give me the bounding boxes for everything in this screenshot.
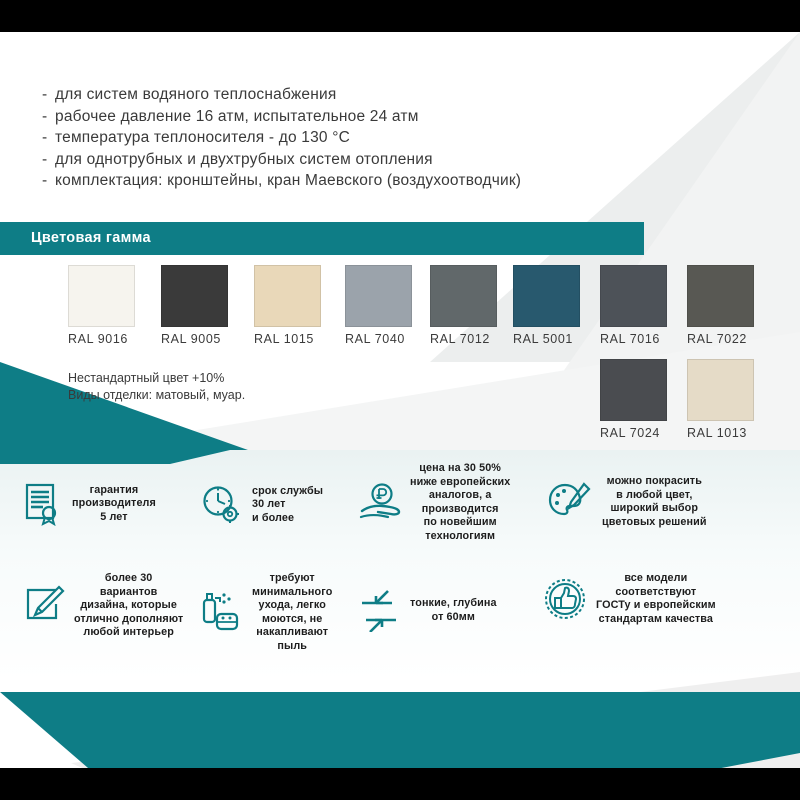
swatch-chip <box>345 265 412 327</box>
feature-text: цена на 30 50% ниже европейских аналогов… <box>410 462 510 544</box>
feature-easy-clean: требуют минимального ухода, легко моются… <box>198 572 368 654</box>
swatch-chip <box>513 265 580 327</box>
feature-text: более 30 вариантов дизайна, которые отли… <box>74 572 183 640</box>
bullet-marker: - <box>42 84 55 106</box>
bullet-text: для однотрубных и двухтрубных систем ото… <box>55 149 433 171</box>
swatch-ral-1013: RAL 1013 <box>687 359 754 440</box>
swatch-label: RAL 7012 <box>430 332 497 346</box>
bullet-text: температура теплоносителя - до 130 °С <box>55 127 350 149</box>
swatch-chip <box>687 359 754 421</box>
swatch-ral-9005: RAL 9005 <box>161 265 228 346</box>
bullet-text: рабочее давление 16 атм, испытательное 2… <box>55 106 419 128</box>
swatch-ral-7022: RAL 7022 <box>687 265 754 346</box>
swatch-ral-7012: RAL 7012 <box>430 265 497 346</box>
letterbox-bottom <box>0 768 800 800</box>
feature-design-variants: более 30 вариантов дизайна, которые отли… <box>22 572 202 640</box>
palette-notes: Нестандартный цвет +10% Виды отделки: ма… <box>68 370 245 404</box>
list-item: - температура теплоносителя - до 130 °С <box>42 127 642 149</box>
hand-ruble-icon <box>358 481 404 525</box>
swatch-ral-9016: RAL 9016 <box>68 265 135 346</box>
certificate-icon <box>22 482 64 526</box>
bullet-marker: - <box>42 106 55 128</box>
list-item: - рабочее давление 16 атм, испытательное… <box>42 106 642 128</box>
swatch-label: RAL 7022 <box>687 332 754 346</box>
swatch-chip <box>254 265 321 327</box>
feature-price: цена на 30 50% ниже европейских аналогов… <box>358 462 548 544</box>
swatch-chip <box>600 359 667 421</box>
swatch-label: RAL 1015 <box>254 332 321 346</box>
swatch-chip <box>161 265 228 327</box>
decorative-bottom-white-wedge <box>0 732 160 768</box>
swatch-label: RAL 1013 <box>687 426 754 440</box>
decorative-bottom-gray <box>0 632 800 768</box>
swatch-ral-1015: RAL 1015 <box>254 265 321 346</box>
swatch-label: RAL 7040 <box>345 332 412 346</box>
bullet-text: для систем водяного теплоснабжения <box>55 84 336 106</box>
swatch-label: RAL 5001 <box>513 332 580 346</box>
slide-body: - для систем водяного теплоснабжения - р… <box>0 32 800 768</box>
feature-text: можно покрасить в любой цвет, широкий вы… <box>602 475 707 529</box>
swatch-ral-7040: RAL 7040 <box>345 265 412 346</box>
letterbox-top <box>0 0 800 32</box>
feature-warranty: гарантия производителя 5 лет <box>22 482 197 526</box>
feature-text: тонкие, глубина от 60мм <box>410 597 497 624</box>
list-item: - для систем водяного теплоснабжения <box>42 84 642 106</box>
bullet-marker: - <box>42 149 55 171</box>
depth-arrows-icon <box>358 590 400 632</box>
feature-depth: тонкие, глубина от 60мм <box>358 590 538 632</box>
pencil-design-icon <box>22 584 66 628</box>
feature-text: требуют минимального ухода, легко моются… <box>252 572 332 654</box>
bullet-marker: - <box>42 127 55 149</box>
swatch-chip <box>68 265 135 327</box>
feature-text: все модели соответствуют ГОСТу и европей… <box>596 572 716 626</box>
thumbs-up-badge-icon <box>542 576 588 622</box>
feature-paintable: можно покрасить в любой цвет, широкий вы… <box>548 475 733 529</box>
feature-standards: все модели соответствуют ГОСТу и европей… <box>542 572 737 626</box>
swatch-label: RAL 9005 <box>161 332 228 346</box>
swatch-ral-7016: RAL 7016 <box>600 265 667 346</box>
clock-gear-icon <box>200 484 242 526</box>
palette-header-title: Цветовая гамма <box>31 230 151 246</box>
specs-bullet-list: - для систем водяного теплоснабжения - р… <box>42 84 642 192</box>
note-line: Нестандартный цвет +10% <box>68 370 245 387</box>
swatch-ral-7024: RAL 7024 <box>600 359 667 440</box>
feature-text: срок службы 30 лет и более <box>252 485 323 526</box>
decorative-bottom-teal-band <box>0 692 800 768</box>
swatch-label: RAL 9016 <box>68 332 135 346</box>
swatch-chip <box>430 265 497 327</box>
swatch-chip <box>600 265 667 327</box>
spray-sponge-icon <box>198 590 244 636</box>
palette-brush-icon <box>548 481 592 523</box>
feature-text: гарантия производителя 5 лет <box>72 484 156 525</box>
swatch-chip <box>687 265 754 327</box>
note-line: Виды отделки: матовый, муар. <box>68 387 245 404</box>
bullet-text: комплектация: кронштейны, кран Маевского… <box>55 170 521 192</box>
swatch-label: RAL 7024 <box>600 426 667 440</box>
slide-canvas: - для систем водяного теплоснабжения - р… <box>0 0 800 800</box>
bullet-marker: - <box>42 170 55 192</box>
list-item: - для однотрубных и двухтрубных систем о… <box>42 149 642 171</box>
feature-service-life: срок службы 30 лет и более <box>200 484 370 526</box>
swatch-ral-5001: RAL 5001 <box>513 265 580 346</box>
list-item: - комплектация: кронштейны, кран Маевско… <box>42 170 642 192</box>
swatch-label: RAL 7016 <box>600 332 667 346</box>
